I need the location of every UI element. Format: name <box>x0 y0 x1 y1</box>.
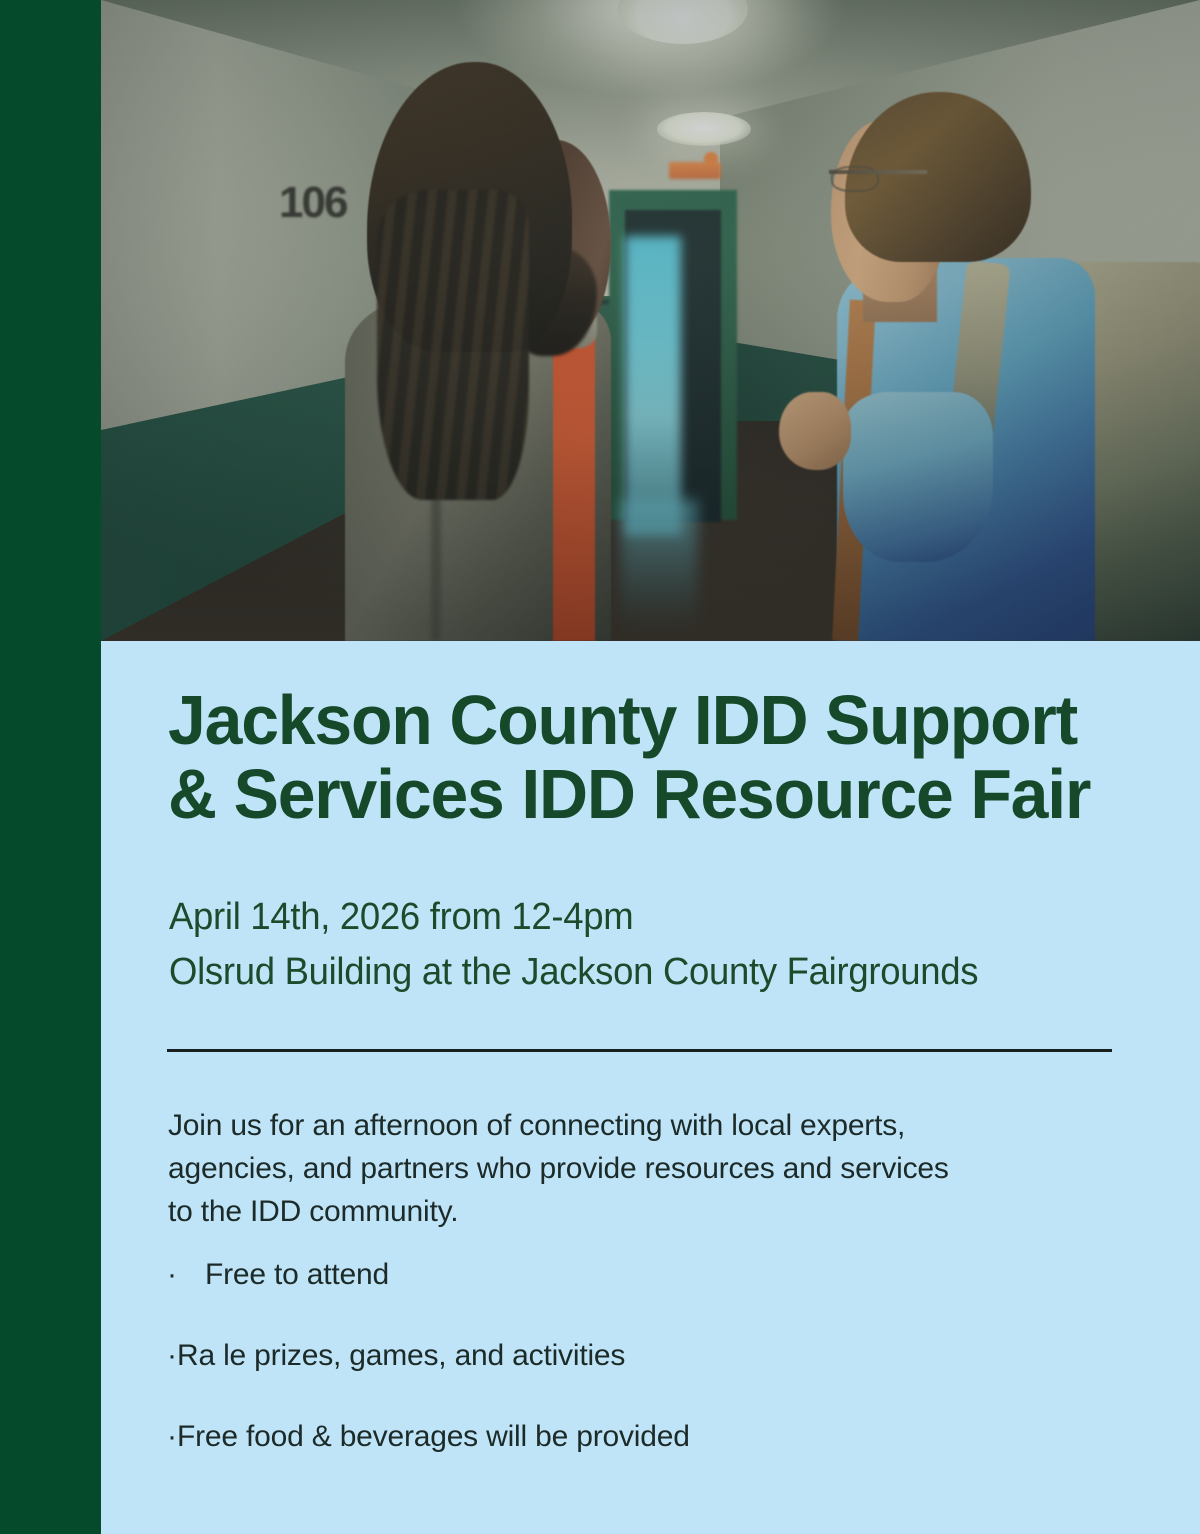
glasses-temple-icon <box>829 170 927 174</box>
flyer-content-panel: Jackson County IDD Support & Services ID… <box>101 641 1200 1534</box>
list-item: · Free food & beverages will be provided <box>167 1419 1112 1455</box>
event-date-time: April 14th, 2026 from 12-4pm <box>169 890 1129 945</box>
list-item-label: Free food & beverages will be provided <box>177 1419 690 1455</box>
section-divider <box>167 1049 1112 1052</box>
event-highlights-list: · Free to attend · Ra le prizes, games, … <box>167 1257 1112 1500</box>
list-item-label: Ra le prizes, games, and activities <box>177 1338 625 1374</box>
right-person-sleeve <box>843 392 993 562</box>
event-flyer: 106 Jackson County IDD Support & Service… <box>0 0 1200 1534</box>
list-item: · Free to attend <box>167 1257 1112 1293</box>
bullet-icon: · <box>167 1419 175 1455</box>
left-person-shirt <box>553 330 595 641</box>
left-person-dreadlocks <box>377 190 529 500</box>
description-line-2: agencies, and partners who provide resou… <box>168 1148 1113 1191</box>
description-line-1: Join us for an afternoon of connecting w… <box>168 1105 1113 1148</box>
event-location: Olsrud Building at the Jackson County Fa… <box>169 945 1129 1000</box>
floor-light-reflection <box>621 500 697 630</box>
event-title: Jackson County IDD Support & Services ID… <box>168 683 1119 831</box>
left-green-spine <box>0 0 101 1534</box>
list-item: · Ra le prizes, games, and activities <box>167 1338 1112 1374</box>
event-description: Join us for an afternoon of connecting w… <box>168 1105 1113 1234</box>
indicator-lamp-icon <box>704 152 718 166</box>
hallway-photo: 106 <box>101 0 1200 641</box>
room-number-label: 106 <box>279 178 346 228</box>
teal-light-glow <box>625 236 681 536</box>
event-details: April 14th, 2026 from 12-4pm Olsrud Buil… <box>169 890 1129 999</box>
right-person-hand <box>779 392 851 470</box>
description-line-3: to the IDD community. <box>168 1191 1113 1234</box>
bullet-icon: · <box>167 1338 175 1374</box>
list-item-label: Free to attend <box>205 1257 389 1293</box>
bullet-icon: · <box>167 1257 175 1293</box>
ceiling-light-far-icon <box>657 112 751 146</box>
